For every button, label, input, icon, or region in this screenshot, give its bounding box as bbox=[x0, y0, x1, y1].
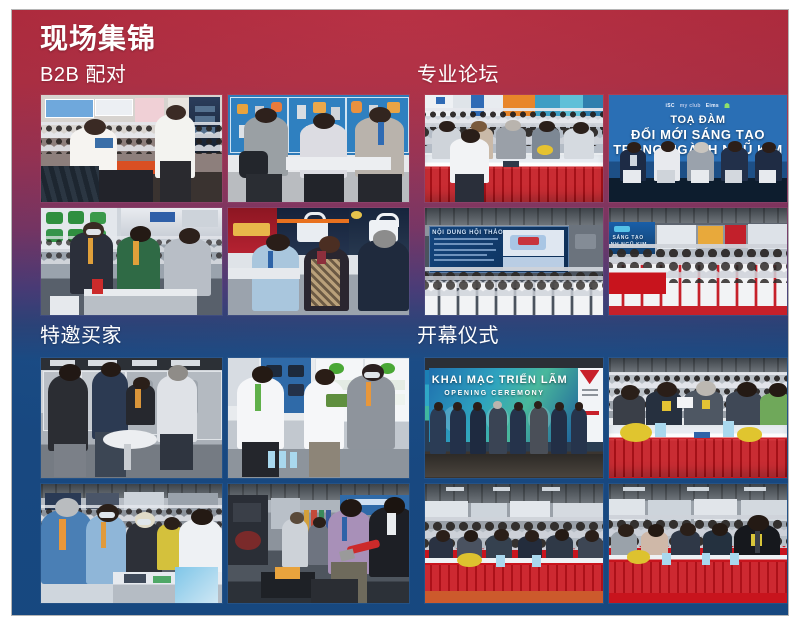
photo-forum-2: iSC my club Eims ☗ TOẠ ĐÀM ĐỔI MỚI SÁNG … bbox=[609, 95, 787, 202]
photo-grid-invited-buyers bbox=[41, 358, 409, 603]
photo-buyer-1 bbox=[41, 358, 222, 478]
photo-b2b-1 bbox=[41, 95, 222, 202]
photo-opening-1: KHAI MẠC TRIỂN LÃM OPENING CEREMONY bbox=[425, 358, 603, 478]
photo-grid-professional-forum: iSC my club Eims ☗ TOẠ ĐÀM ĐỔI MỚI SÁNG … bbox=[425, 95, 787, 315]
sponsor-logo-3: Eims bbox=[706, 103, 719, 109]
poster-panel: 现场集锦 B2B 配对 专业论坛 特邀买家 开幕仪式 bbox=[12, 10, 788, 615]
photo-buyer-4 bbox=[228, 484, 409, 604]
sponsor-logo-4: ☗ bbox=[724, 102, 731, 110]
photo-opening-2 bbox=[609, 358, 787, 478]
photo-b2b-3 bbox=[41, 208, 222, 315]
opening-banner-line2: OPENING CEREMONY bbox=[429, 390, 561, 397]
sponsor-logo-1: iSC bbox=[666, 103, 675, 109]
poster-screenshot: 现场集锦 B2B 配对 专业论坛 特邀买家 开幕仪式 bbox=[0, 0, 800, 627]
photo-forum-3: NỘI DUNG HỘI THẢO bbox=[425, 208, 603, 315]
photo-grid-b2b-matchmaking bbox=[41, 95, 409, 315]
photo-b2b-2 bbox=[228, 95, 409, 202]
section-title-opening-ceremony: 开幕仪式 bbox=[417, 326, 499, 346]
photo-opening-3 bbox=[425, 484, 603, 604]
photo-b2b-4 bbox=[228, 208, 409, 315]
section-title-b2b-matchmaking: B2B 配对 bbox=[40, 65, 126, 85]
photo-forum-4: SÁNG TẠO NH NGŨ KIM bbox=[609, 208, 787, 315]
forum-screen-title: NỘI DUNG HỘI THẢO bbox=[432, 230, 503, 236]
photo-opening-4 bbox=[609, 484, 787, 604]
photo-buyer-3 bbox=[41, 484, 222, 604]
section-title-invited-buyers: 特邀买家 bbox=[40, 326, 122, 346]
forum-screen-line1: SÁNG TẠO bbox=[613, 236, 644, 241]
page-title: 现场集锦 bbox=[40, 24, 156, 55]
opening-banner-line1: KHAI MẠC TRIỂN LÃM bbox=[429, 375, 571, 387]
forum-banner-line1: TOẠ ĐÀM bbox=[609, 115, 787, 127]
forum-banner-line2: ĐỔI MỚI SÁNG TẠO bbox=[609, 128, 787, 142]
forum-banner-sponsors: iSC my club Eims ☗ bbox=[637, 102, 758, 110]
photo-buyer-2 bbox=[228, 358, 409, 478]
photo-grid-opening-ceremony: KHAI MẠC TRIỂN LÃM OPENING CEREMONY bbox=[425, 358, 787, 603]
sponsor-logo-2: my club bbox=[680, 103, 701, 109]
section-title-professional-forum: 专业论坛 bbox=[417, 65, 499, 85]
photo-forum-1 bbox=[425, 95, 603, 202]
